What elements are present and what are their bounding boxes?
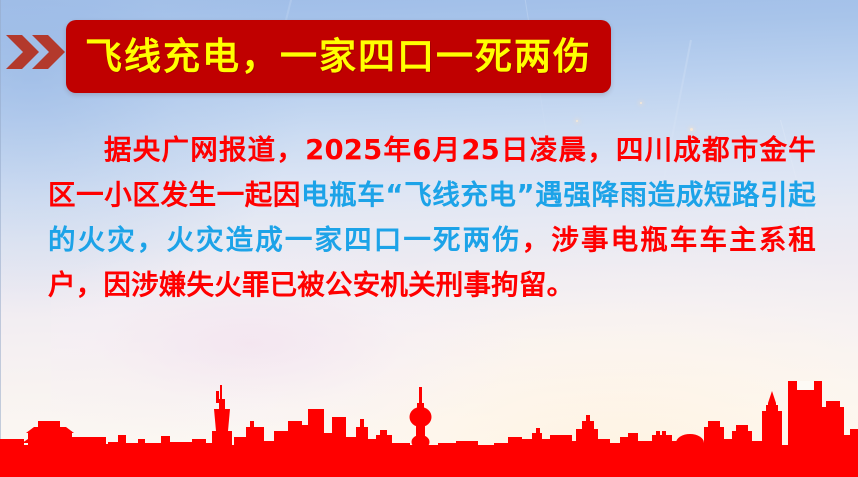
sparkle <box>576 120 578 122</box>
slide-canvas: 飞线充电，一家四口一死两伤 据央广网报道，2025年6月25日凌晨，四川成都市金… <box>0 0 858 477</box>
page-title: 飞线充电，一家四口一死两伤 <box>85 38 592 75</box>
city-skyline-silhouette <box>0 347 858 477</box>
body-paragraph: 据央广网报道，2025年6月25日凌晨，四川成都市金牛区一小区发生一起因电瓶车“… <box>48 128 816 308</box>
title-banner: 飞线充电，一家四口一死两伤 <box>66 20 611 93</box>
sparkle <box>640 102 642 104</box>
double-chevron-right-icon <box>6 33 66 71</box>
